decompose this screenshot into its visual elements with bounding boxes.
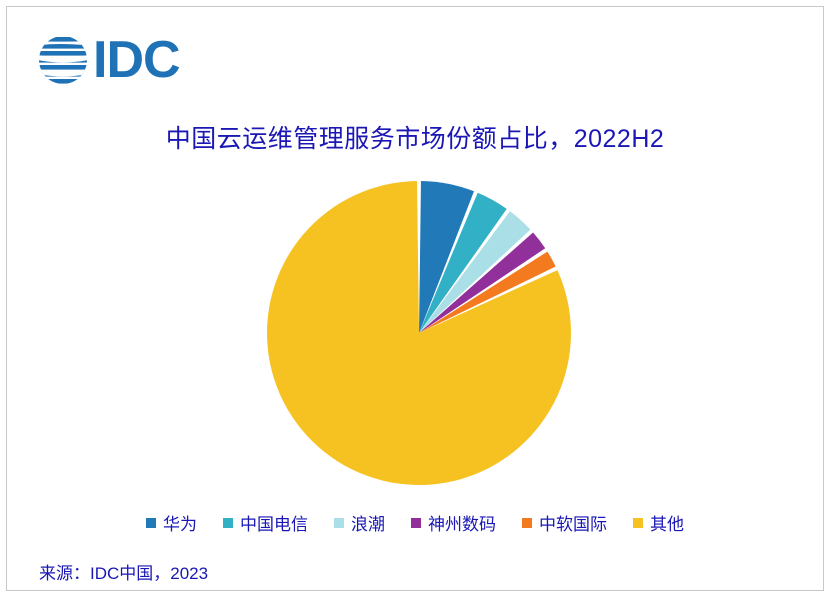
legend-label-others: 其他 xyxy=(650,510,684,535)
legend-item-huawei[interactable]: 华为 xyxy=(146,510,197,535)
idc-logo: IDC xyxy=(37,32,180,88)
chart-title: 中国云运维管理服务市场份额占比，2022H2 xyxy=(7,119,823,155)
legend-item-inspur[interactable]: 浪潮 xyxy=(334,510,385,535)
legend-label-huawei: 华为 xyxy=(163,510,197,535)
legend-swatch-chinasoft xyxy=(522,518,532,528)
legend-item-chinasoft[interactable]: 中软国际 xyxy=(522,510,607,535)
legend-swatch-huawei xyxy=(146,518,156,528)
idc-logo-text: IDC xyxy=(93,34,180,86)
legend-item-china-telecom[interactable]: 中国电信 xyxy=(223,510,308,535)
idc-globe-icon xyxy=(37,34,89,86)
legend-swatch-china-telecom xyxy=(223,518,233,528)
legend-swatch-others xyxy=(633,518,643,528)
legend-label-china-telecom: 中国电信 xyxy=(240,510,308,535)
legend-item-others[interactable]: 其他 xyxy=(633,510,684,535)
legend-label-chinasoft: 中软国际 xyxy=(539,510,607,535)
source-note: 来源：IDC中国，2023 xyxy=(39,559,208,584)
legend-label-inspur: 浪潮 xyxy=(351,510,385,535)
pie-slice-group xyxy=(267,181,571,485)
pie-chart xyxy=(258,177,588,492)
pie-chart-area xyxy=(7,177,832,497)
chart-legend: 华为 中国电信 浪潮 神州数码 中软国际 其他 xyxy=(7,510,823,535)
legend-item-digital-china[interactable]: 神州数码 xyxy=(411,510,496,535)
legend-swatch-inspur xyxy=(334,518,344,528)
legend-label-digital-china: 神州数码 xyxy=(428,510,496,535)
slide-frame: IDC 中国云运维管理服务市场份额占比，2022H2 华为 中国电信 浪潮 神州… xyxy=(6,6,824,591)
legend-swatch-digital-china xyxy=(411,518,421,528)
